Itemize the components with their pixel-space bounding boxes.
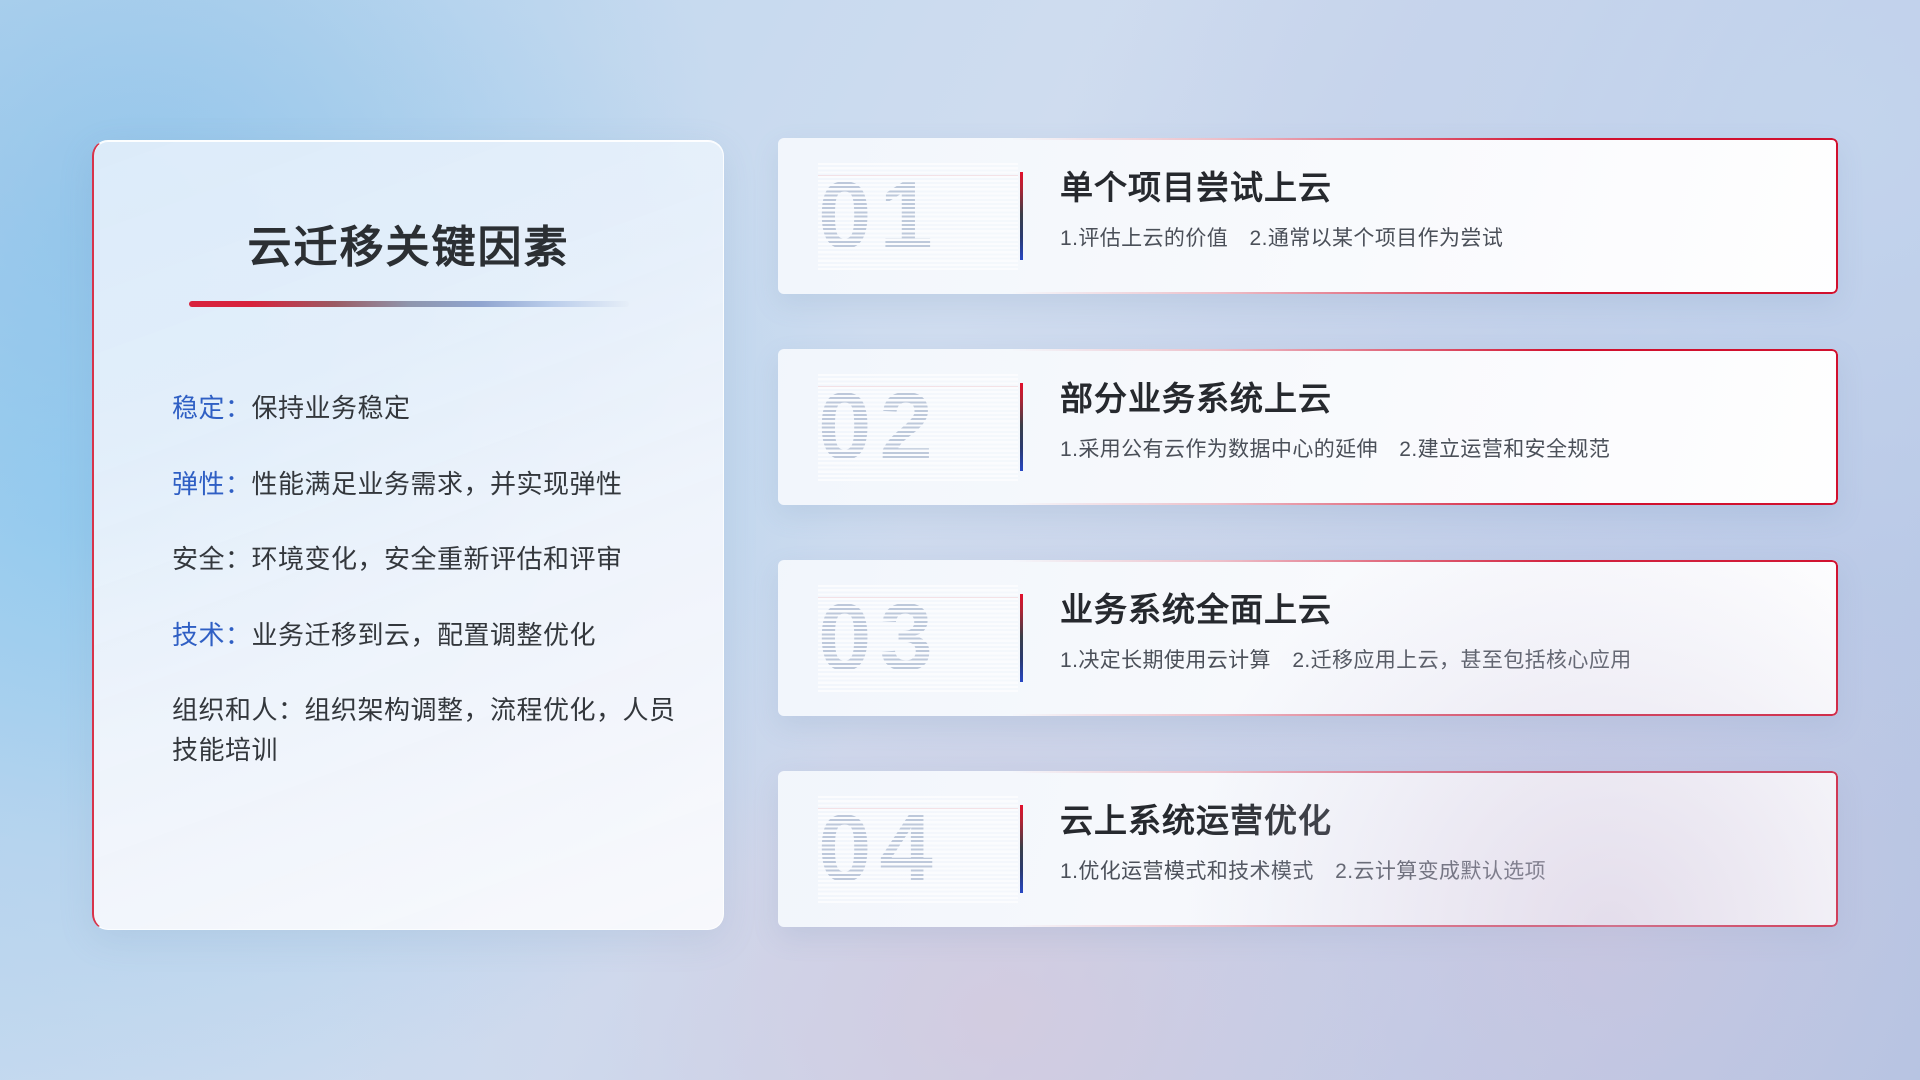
stage-number-text-03: 03 [818,583,1018,693]
stage-card-04[interactable]: 04 云上系统运营优化 1.优化运营模式和技术模式 2.云计算变成默认选项 [778,771,1838,927]
factor-item-organization: 组织和人：组织架构调整，流程优化，人员技能培训 [172,691,677,770]
stage-card-list: 01 单个项目尝试上云 1.评估上云的价值 2.通常以某个项目作为尝试 02 部… [778,138,1838,982]
page-title: 云迁移关键因素 [140,211,677,275]
stage-number-02: 02 [818,372,1018,482]
stage-title-02: 部分业务系统上云 [1060,379,1804,419]
factor-label-elasticity: 弹性： [172,469,252,499]
factor-label-technology: 技术： [172,620,252,650]
stage-divider-bar-03 [1020,594,1023,682]
factor-text-elasticity: 性能满足业务需求，并实现弹性 [252,469,623,499]
stage-title-01: 单个项目尝试上云 [1060,168,1804,208]
factor-text-security: 环境变化，安全重新评估和评审 [252,544,623,574]
key-factors-panel-inner: 云迁移关键因素 稳定：保持业务稳定 弹性：性能满足业务需求，并实现弹性 安全：环… [94,141,723,929]
stage-subtitle-02: 1.采用公有云作为数据中心的延伸 2.建立运营和安全规范 [1060,436,1804,463]
stage-number-text-04: 04 [818,794,1018,904]
stage-card-body-04: 云上系统运营优化 1.优化运营模式和技术模式 2.云计算变成默认选项 [1060,801,1804,885]
stage-divider-bar-04 [1020,805,1023,893]
stage-number-01: 01 [818,161,1018,271]
stage-card-03[interactable]: 03 业务系统全面上云 1.决定长期使用云计算 2.迁移应用上云，甚至包括核心应… [778,560,1838,716]
factor-item-security: 安全：环境变化，安全重新评估和评审 [172,540,677,580]
factor-text-stability: 保持业务稳定 [252,393,411,423]
slide-canvas: 云迁移关键因素 稳定：保持业务稳定 弹性：性能满足业务需求，并实现弹性 安全：环… [0,0,1920,1080]
stage-card-body-01: 单个项目尝试上云 1.评估上云的价值 2.通常以某个项目作为尝试 [1060,168,1804,252]
stage-number-text-02: 02 [818,372,1018,482]
stage-divider-bar-02 [1020,383,1023,471]
stage-number-03: 03 [818,583,1018,693]
stage-card-body-02: 部分业务系统上云 1.采用公有云作为数据中心的延伸 2.建立运营和安全规范 [1060,379,1804,463]
factor-label-stability: 稳定： [172,393,252,423]
key-factors-panel: 云迁移关键因素 稳定：保持业务稳定 弹性：性能满足业务需求，并实现弹性 安全：环… [92,140,724,930]
stage-number-04: 04 [818,794,1018,904]
stage-subtitle-01: 1.评估上云的价值 2.通常以某个项目作为尝试 [1060,225,1804,252]
factor-text-technology: 业务迁移到云，配置调整优化 [252,620,597,650]
factor-item-stability: 稳定：保持业务稳定 [172,389,677,429]
factor-label-security: 安全： [172,544,252,574]
factor-item-technology: 技术：业务迁移到云，配置调整优化 [172,616,677,656]
factor-item-elasticity: 弹性：性能满足业务需求，并实现弹性 [172,465,677,505]
title-underline-rule [189,301,629,307]
stage-subtitle-04: 1.优化运营模式和技术模式 2.云计算变成默认选项 [1060,858,1804,885]
stage-title-04: 云上系统运营优化 [1060,801,1804,841]
stage-divider-bar-01 [1020,172,1023,260]
stage-card-body-03: 业务系统全面上云 1.决定长期使用云计算 2.迁移应用上云，甚至包括核心应用 [1060,590,1804,674]
stage-card-01[interactable]: 01 单个项目尝试上云 1.评估上云的价值 2.通常以某个项目作为尝试 [778,138,1838,294]
factor-label-organization: 组织和人： [172,695,305,725]
stage-subtitle-03: 1.决定长期使用云计算 2.迁移应用上云，甚至包括核心应用 [1060,647,1804,674]
stage-title-03: 业务系统全面上云 [1060,590,1804,630]
factor-list: 稳定：保持业务稳定 弹性：性能满足业务需求，并实现弹性 安全：环境变化，安全重新… [140,389,677,770]
stage-card-02[interactable]: 02 部分业务系统上云 1.采用公有云作为数据中心的延伸 2.建立运营和安全规范 [778,349,1838,505]
stage-number-text-01: 01 [818,161,1018,271]
